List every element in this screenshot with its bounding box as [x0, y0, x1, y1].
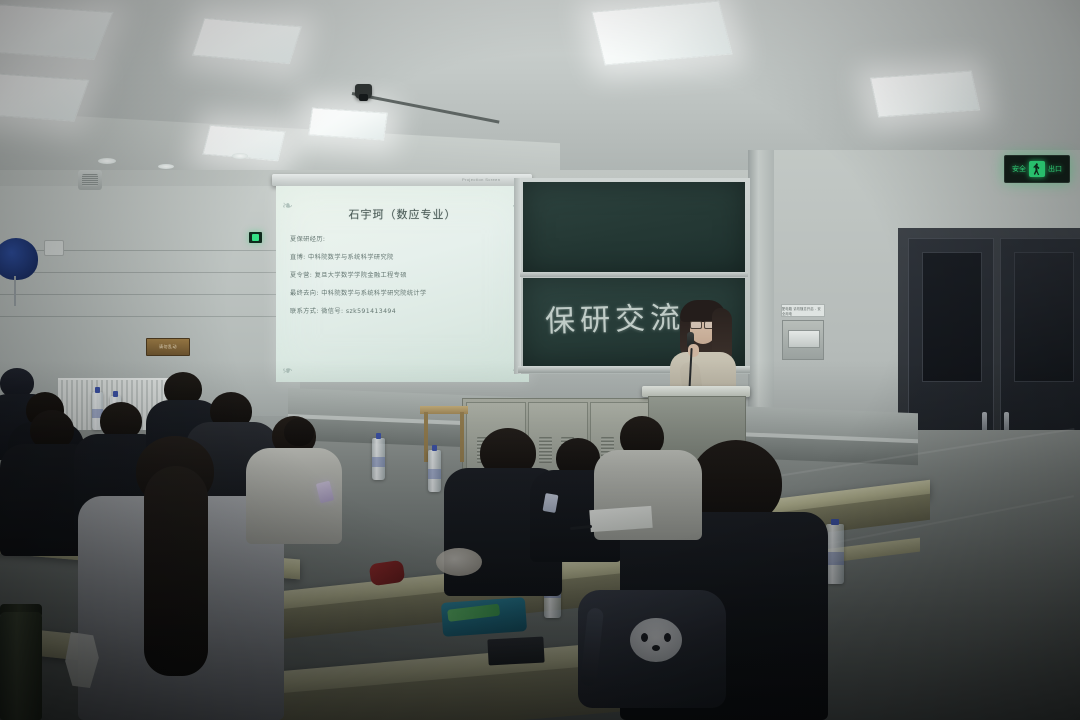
ceiling-downlight: [232, 153, 248, 159]
water-bottle: [826, 524, 844, 584]
ceiling-light-panel: [870, 70, 981, 117]
projector-screen: ❧ ❧ ❧ ❧ 石宇珂（数应专业） 夏保研经历: 直博: 中科院数学与系统科学研…: [276, 186, 529, 382]
wall-groove: [0, 316, 300, 317]
backpack-strap: [580, 607, 604, 686]
emergency-exit-sign: 安全 出口: [1004, 155, 1070, 183]
notebook-paper: [589, 506, 652, 532]
ceiling-light-panel: [0, 72, 90, 121]
wall-speaker-icon: [78, 170, 102, 190]
notebook: [487, 637, 544, 666]
exit-sign-right-text: 出口: [1048, 164, 1062, 174]
secondary-exit-indicator: [249, 232, 262, 243]
slide-line: 夏令营: 复旦大学数学学院金融工程专硕: [290, 270, 519, 279]
projector-screen-housing: Projection Screen: [272, 174, 532, 186]
panda-face-backpack: [578, 590, 726, 708]
electrical-panel-label-text: 配电箱 请勿随意开启 - 安全用电: [782, 306, 824, 316]
electrical-panel[interactable]: [782, 320, 824, 360]
running-man-icon: [1029, 161, 1045, 177]
electrical-panel-label: 配电箱 请勿随意开启 - 安全用电: [781, 304, 825, 317]
water-bottle: [372, 438, 385, 480]
wall-groove: [0, 294, 300, 295]
cabinet-vent: [539, 437, 552, 463]
wall-groove: [0, 272, 300, 273]
classroom-photo: 请勿乱动 配电箱 请勿随意开启 - 安全用电 Projection Screen…: [0, 0, 1080, 720]
pencil-case: [441, 597, 527, 637]
slide-title: 石宇珂（数应专业）: [276, 206, 529, 222]
electrical-panel-window: [788, 330, 820, 348]
ceiling-downlight: [98, 158, 116, 164]
ponytail: [144, 466, 208, 676]
wall-plaque-text: 请勿乱动: [159, 344, 177, 350]
slide-ornament-icon: ❧: [282, 363, 293, 376]
projector-screen-brand: Projection Screen: [462, 177, 500, 182]
table-leg: [460, 412, 464, 462]
panda-nose-icon: [652, 645, 660, 651]
blackboard-upper-panel: [523, 182, 745, 274]
slide-line: 最终去向: 中科院数学与系统科学研究院统计学: [290, 288, 519, 297]
umbrella: [0, 238, 38, 280]
umbrella-handle: [14, 276, 16, 306]
wall-socket: [44, 240, 64, 256]
water-bottle: [428, 450, 441, 492]
ceiling-light-panel: [0, 4, 114, 60]
exit-sign-left-text: 安全: [1012, 164, 1026, 174]
slide-line: 直博: 中科院数学与系统科学研究院: [290, 252, 519, 261]
blackboard-divider: [520, 272, 748, 277]
slide-body: 夏保研经历: 直博: 中科院数学与系统科学研究院 夏令营: 复旦大学数学学院金融…: [290, 234, 519, 324]
wall-plaque: 请勿乱动: [146, 338, 190, 356]
slide-line: 夏保研经历:: [290, 234, 519, 243]
ceiling-light-panel: [308, 107, 388, 140]
door-right-glass: [1014, 252, 1074, 382]
thermos-flask: [0, 612, 42, 720]
audience-head: [284, 418, 314, 446]
ceiling-light-panel: [591, 0, 732, 65]
door-left-glass: [922, 252, 982, 382]
ceiling-downlight: [158, 164, 174, 169]
slide-content: ❧ ❧ ❧ ❧ 石宇珂（数应专业） 夏保研经历: 直博: 中科院数学与系统科学研…: [276, 186, 529, 382]
fur-hood: [436, 548, 482, 576]
security-camera-icon: [355, 84, 372, 99]
panda-face-icon: [630, 618, 682, 662]
slide-line: 联系方式: 微信号: szk591413494: [290, 306, 519, 315]
